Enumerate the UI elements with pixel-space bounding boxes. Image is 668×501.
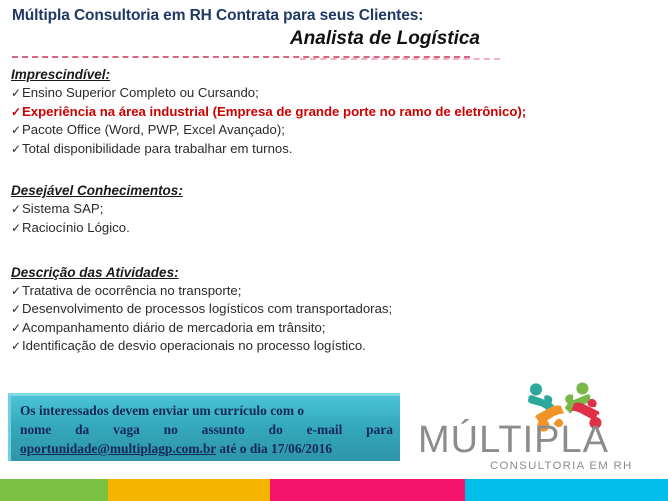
- contact-word: e-mail: [307, 420, 343, 439]
- list-item: ✓ Identificação de desvio operacionais n…: [11, 337, 600, 356]
- list-item: ✓ Sistema SAP;: [11, 200, 600, 219]
- list-item: ✓ Tratativa de ocorrência no transporte;: [11, 282, 600, 301]
- color-block-magenta: [270, 479, 465, 501]
- list-item-text: Pacote Office (Word, PWP, Excel Avançado…: [22, 121, 285, 139]
- section-title-desejavel: Desejável Conhecimentos:: [0, 183, 183, 198]
- check-icon: ✓: [11, 320, 22, 338]
- header-divider-accent: [300, 58, 500, 60]
- activity-list: ✓ Tratativa de ocorrência no transporte;…: [0, 282, 600, 356]
- contact-word: para: [366, 420, 393, 439]
- check-icon: ✓: [11, 338, 22, 356]
- check-icon: ✓: [11, 301, 22, 319]
- list-item: ✓ Desenvolvimento de processos logístico…: [11, 300, 600, 319]
- list-item-text: Ensino Superior Completo ou Cursando;: [22, 84, 259, 102]
- list-item-text: Acompanhamento diário de mercadoria em t…: [22, 319, 325, 337]
- section-title-imprescindivel: Imprescindível:: [0, 67, 110, 82]
- section-title-atividades: Descrição das Atividades:: [0, 265, 179, 280]
- list-item: ✓ Raciocínio Lógico.: [11, 219, 600, 238]
- check-icon: ✓: [11, 141, 22, 159]
- contact-line-2: nome da vaga no assunto do e-mail para: [20, 420, 393, 439]
- list-item: ✓ Pacote Office (Word, PWP, Excel Avança…: [11, 121, 600, 140]
- logo-tagline: CONSULTORIA EM RH: [490, 460, 633, 472]
- job-posting-poster: Múltipla Consultoria em RH Contrata para…: [0, 0, 668, 501]
- spacer: [0, 248, 600, 264]
- spacer: [0, 168, 600, 182]
- list-item-text: Identificação de desvio operacionais no …: [22, 337, 366, 355]
- contact-word: assunto: [202, 420, 245, 439]
- company-logo: MÚLTIPLA CONSULTORIA EM RH: [418, 382, 662, 464]
- check-icon: ✓: [11, 122, 22, 140]
- poster-body: Imprescindível: ✓ Ensino Superior Comple…: [0, 66, 600, 366]
- contact-deadline: até o dia 17/06/2016: [219, 441, 332, 456]
- contact-line-3: oportunidade@multiplagp.com.br até o dia…: [20, 439, 393, 458]
- color-block-cyan: [465, 479, 668, 501]
- section-atividades: Descrição das Atividades: ✓ Tratativa de…: [0, 264, 600, 356]
- footer-color-bar: [0, 479, 668, 501]
- contact-word: da: [75, 420, 89, 439]
- list-item: ✓ Acompanhamento diário de mercadoria em…: [11, 319, 600, 338]
- section-desejavel: Desejável Conhecimentos: ✓ Sistema SAP; …: [0, 182, 600, 237]
- list-item-text: Tratativa de ocorrência no transporte;: [22, 282, 241, 300]
- list-item: ✓ Experiência na área industrial (Empres…: [11, 103, 600, 122]
- list-item-text: Total disponibilidade para trabalhar em …: [22, 140, 293, 158]
- list-item-text: Desenvolvimento de processos logísticos …: [22, 300, 392, 318]
- logo-wordmark: MÚLTIPLA: [418, 420, 609, 460]
- requirement-list-imprescindivel: ✓ Ensino Superior Completo ou Cursando; …: [0, 84, 600, 158]
- contact-word: no: [164, 420, 178, 439]
- contact-line-1: Os interessados devem enviar um currícul…: [20, 401, 393, 420]
- contact-email-link[interactable]: oportunidade@multiplagp.com.br: [20, 441, 216, 456]
- check-icon: ✓: [11, 220, 22, 238]
- list-item-text: Experiência na área industrial (Empresa …: [22, 103, 526, 121]
- list-item: ✓ Ensino Superior Completo ou Cursando;: [11, 84, 600, 103]
- contact-word: do: [269, 420, 283, 439]
- color-block-green: [0, 479, 108, 501]
- requirement-list-desejavel: ✓ Sistema SAP; ✓ Raciocínio Lógico.: [0, 200, 600, 237]
- color-block-amber: [108, 479, 270, 501]
- contact-word: vaga: [113, 420, 140, 439]
- check-icon: ✓: [11, 201, 22, 219]
- contact-word: nome: [20, 420, 51, 439]
- check-icon: ✓: [11, 283, 22, 301]
- job-title: Analista de Logística: [0, 25, 668, 50]
- check-icon: ✓: [11, 104, 22, 122]
- company-headline: Múltipla Consultoria em RH Contrata para…: [0, 0, 668, 25]
- list-item: ✓ Total disponibilidade para trabalhar e…: [11, 140, 600, 159]
- contact-callout-box: Os interessados devem enviar um currícul…: [8, 393, 400, 461]
- check-icon: ✓: [11, 85, 22, 103]
- section-imprescindivel: Imprescindível: ✓ Ensino Superior Comple…: [0, 66, 600, 158]
- poster-header: Múltipla Consultoria em RH Contrata para…: [0, 0, 668, 50]
- list-item-text: Sistema SAP;: [22, 200, 103, 218]
- list-item-text: Raciocínio Lógico.: [22, 219, 130, 237]
